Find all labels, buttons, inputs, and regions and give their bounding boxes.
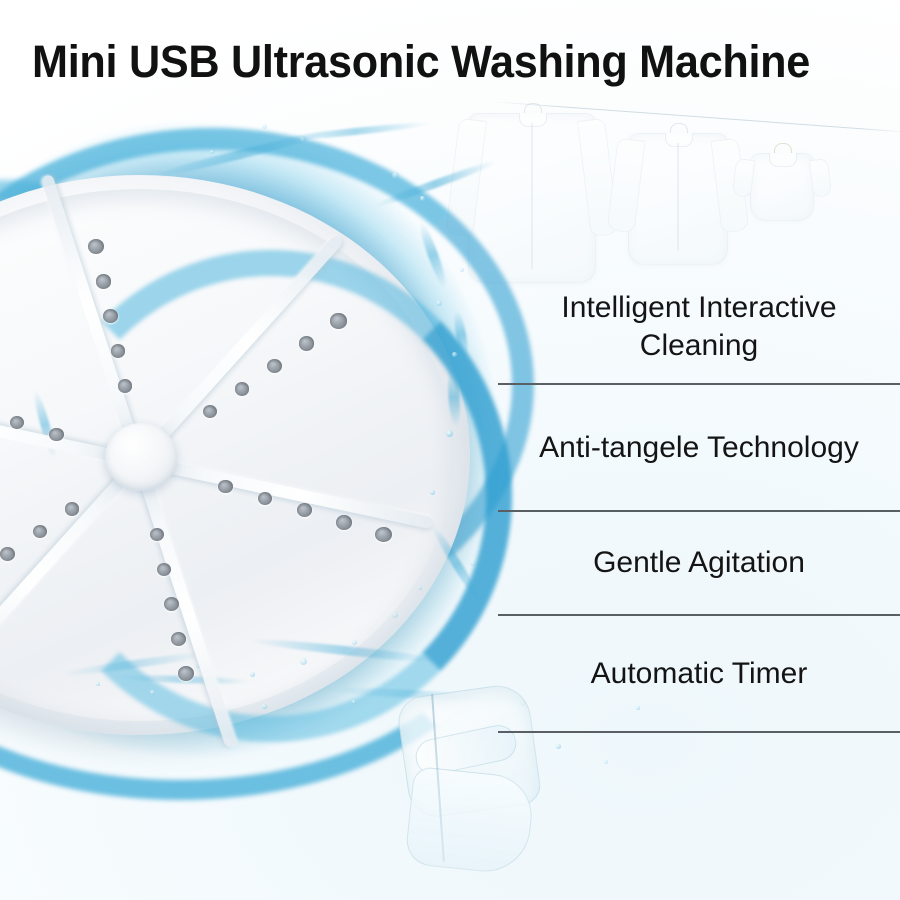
- water-droplet: [96, 682, 100, 686]
- disc-hole: [336, 515, 352, 530]
- disc-hole: [150, 528, 164, 541]
- disc-hole: [49, 428, 63, 441]
- feature-item-intelligent-interactive-cleaning: Intelligent Interactive Cleaning: [498, 270, 900, 385]
- clothesline-graphic: [450, 95, 900, 285]
- turbine-disc-graphic: [0, 175, 470, 735]
- water-droplet: [300, 658, 307, 665]
- shirt-placket: [531, 123, 533, 269]
- page-title: Mini USB Ultrasonic Washing Machine: [32, 38, 858, 86]
- water-droplet: [452, 352, 457, 357]
- water-droplet: [392, 612, 398, 618]
- shirt-collar: [519, 113, 547, 127]
- water-droplet: [250, 672, 255, 677]
- hanging-shirt-small: [750, 143, 814, 221]
- water-droplet: [460, 268, 464, 272]
- water-droplet: [262, 704, 267, 709]
- water-droplet: [446, 430, 453, 437]
- feature-item-anti-tangele-technology: Anti-tangele Technology: [498, 385, 900, 512]
- feature-list: Intelligent Interactive Cleaning Anti-ta…: [498, 270, 900, 733]
- disc-hole: [375, 527, 391, 542]
- water-droplet: [210, 150, 214, 154]
- disc-hole: [65, 502, 79, 515]
- disc-hole: [118, 379, 132, 392]
- product-marketing-image: Mini USB Ultrasonic Washing Machine: [0, 0, 900, 900]
- water-droplet: [420, 196, 425, 201]
- shirt-placket: [677, 143, 679, 251]
- floating-shirt-tail: [404, 766, 536, 876]
- hanging-shirt-large: [468, 103, 596, 283]
- shirt-collar: [769, 153, 797, 167]
- feature-label: Gentle Agitation: [587, 544, 811, 582]
- hanging-shirt-medium: [628, 123, 728, 265]
- feature-item-gentle-agitation: Gentle Agitation: [498, 512, 900, 616]
- feature-label: Intelligent Interactive Cleaning: [498, 289, 900, 365]
- water-droplet: [430, 490, 435, 495]
- feature-label: Anti-tangele Technology: [533, 429, 865, 467]
- water-droplet: [392, 172, 399, 179]
- water-droplet: [352, 700, 356, 704]
- water-droplet: [262, 124, 267, 129]
- shirt-collar: [665, 133, 693, 147]
- disc-hole: [330, 313, 346, 328]
- water-streak: [280, 120, 430, 143]
- water-droplet: [470, 560, 476, 566]
- water-droplet: [418, 586, 422, 590]
- feature-item-automatic-timer: Automatic Timer: [498, 616, 900, 733]
- washer-turbine-disc: [0, 175, 470, 735]
- feature-label: Automatic Timer: [585, 655, 814, 693]
- water-droplet: [604, 760, 608, 764]
- disc-hub: [105, 423, 177, 491]
- shirt-sleeve-right: [809, 158, 832, 198]
- water-droplet: [352, 640, 357, 645]
- water-droplet: [436, 300, 442, 306]
- water-droplet: [150, 690, 155, 695]
- disc-hole: [218, 480, 232, 493]
